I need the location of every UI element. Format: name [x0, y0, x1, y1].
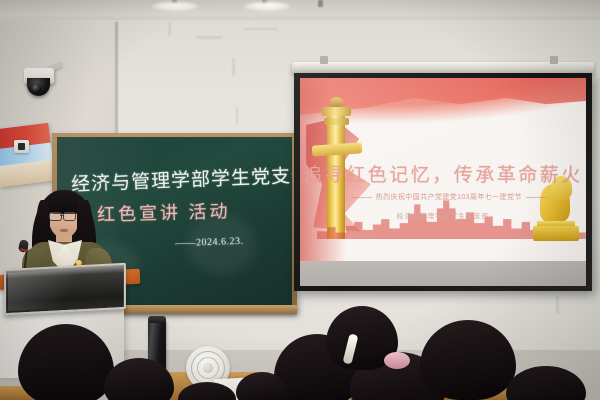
- fan-hub: [203, 363, 213, 373]
- huabiao-cap-lower: [324, 118, 349, 124]
- roller-bracket: [550, 56, 558, 64]
- glasses-left-lens-icon: [49, 212, 62, 221]
- wall-scuff: [244, 28, 278, 30]
- wall-scuff: [556, 296, 559, 314]
- slide-subtitle: 热烈庆祝中国共产党建党103周年七一建党节: [376, 192, 522, 202]
- audience-head: [506, 366, 586, 400]
- rule-left: [351, 197, 371, 198]
- camera-lens-icon: [32, 84, 41, 93]
- podium-display-panel[interactable]: [4, 263, 126, 315]
- slide-title: 追寻红色记忆，传承革命薪火: [300, 160, 586, 187]
- rule-right: [526, 197, 546, 198]
- security-camera: [22, 62, 64, 104]
- ceiling-light-fixture: [318, 0, 323, 7]
- roller-bracket: [320, 56, 328, 64]
- glasses-right-lens-icon: [63, 212, 76, 221]
- screen-blank-band: [300, 261, 586, 286]
- light-switch[interactable]: [14, 140, 29, 153]
- ceiling-light: [244, 2, 290, 11]
- classroom-photo: 经济与管理学部学生党支部 红色宣讲 活动 ——2024.6.23.: [0, 0, 600, 400]
- wall-scuff: [168, 22, 171, 36]
- slide-subtitle-row: 热烈庆祝中国共产党建党103周年七一建党节: [351, 192, 546, 202]
- presentation-slide: 追寻红色记忆，传承革命薪火 热烈庆祝中国共产党建党103周年七一建党节 经济与管…: [300, 78, 586, 261]
- huabiao-beast-icon: [330, 97, 343, 107]
- presenter-mouth: [60, 229, 68, 232]
- wall-scuff: [196, 36, 222, 39]
- thermos-cap: [148, 316, 166, 323]
- huabiao-cap: [322, 107, 351, 116]
- wall-scuff: [232, 58, 235, 76]
- slide-organization: 经济与管理学部学生党支部: [300, 210, 586, 220]
- pink-scrunchie: [384, 352, 410, 369]
- lion-pedestal: [533, 226, 579, 240]
- glasses-bridge: [60, 215, 64, 216]
- projection-screen-surface: 追寻红色记忆，传承革命薪火 热烈庆祝中国共产党建党103周年七一建党节 经济与管…: [300, 78, 586, 286]
- ceiling-light: [152, 2, 198, 11]
- panel-glare: [8, 267, 122, 311]
- blackboard-line-2: 红色宣讲 活动: [97, 197, 231, 226]
- projection-screen: 追寻红色记忆，传承革命薪火 热烈庆祝中国共产党建党103周年七一建党节 经济与管…: [294, 73, 592, 291]
- wall-poster: [0, 123, 55, 187]
- wall-scuff: [236, 106, 238, 126]
